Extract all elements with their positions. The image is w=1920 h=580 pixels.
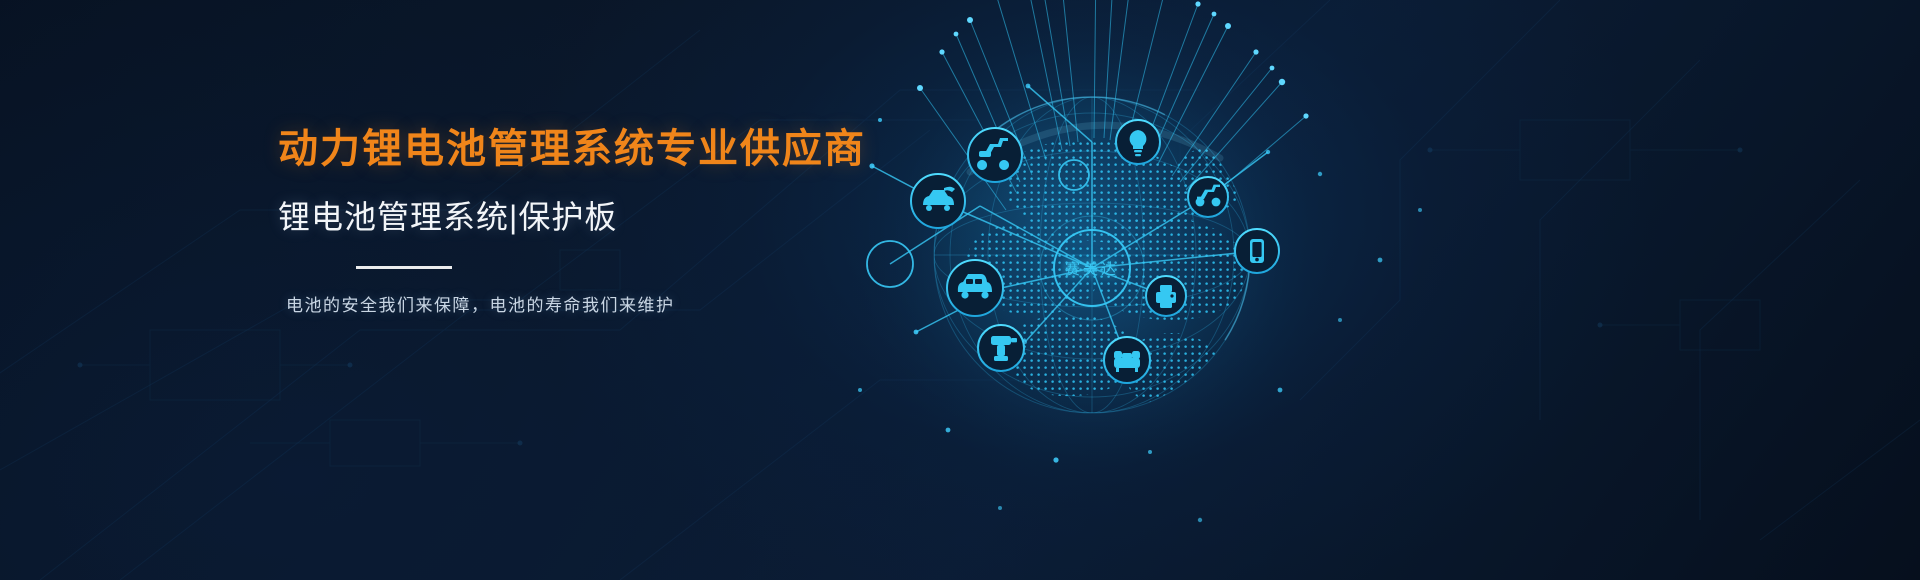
page-tagline: 电池的安全我们来保障，电池的寿命我们来维护 [286,291,918,316]
globe-continents [966,139,1260,408]
bulb-icon [1130,130,1147,156]
network-globe-graphic: 赛美达 [820,0,1520,580]
node-sofa [1104,337,1150,383]
phone-icon [1250,239,1264,263]
node-drill [978,325,1024,371]
hub-node [1040,216,1144,320]
globe-graticule [934,97,1250,413]
drill-icon [991,336,1017,361]
globe-sphere [934,97,1250,413]
node-printer [1146,276,1186,316]
node-car-front [911,174,965,228]
globe-center-label: 赛美达 [1012,258,1172,279]
node-scooter [968,128,1022,182]
globe-top-arc [970,125,1220,172]
data-spikes [920,0,1306,210]
motorbike-icon [1196,185,1221,207]
node-phone [1235,229,1279,273]
node-empty-top [1059,160,1089,190]
divider-rule [356,266,452,269]
scooter-icon [977,138,1009,170]
ambient-particles [858,84,1422,523]
globe-rim-highlight [934,97,1250,413]
car-front-icon [923,187,955,211]
node-car-side [947,260,1003,316]
spike-tips [917,0,1309,119]
page-title: 动力锂电池管理系统专业供应商 [278,126,918,172]
printer-icon [1156,285,1176,308]
hero-banner: 动力锂电池管理系统专业供应商 锂电池管理系统|保护板 电池的安全我们来保障，电池… [0,0,1920,580]
node-motorbike [1188,177,1228,217]
sofa-icon [1114,351,1140,372]
car-side-icon [958,274,992,299]
node-connectors [872,86,1268,360]
page-subtitle: 锂电池管理系统|保护板 [278,198,918,236]
node-bulb [1116,120,1160,164]
banner-copy: 动力锂电池管理系统专业供应商 锂电池管理系统|保护板 电池的安全我们来保障，电池… [278,126,918,316]
